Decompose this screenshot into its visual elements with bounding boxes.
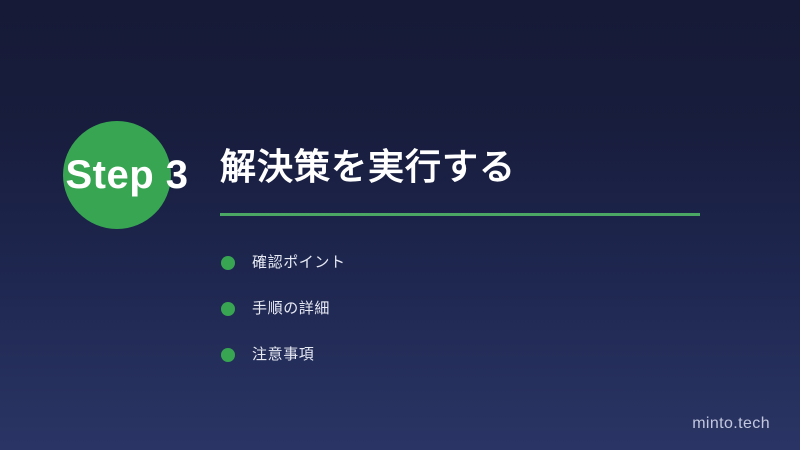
presentation-slide: Step 3 解決策を実行する 確認ポイント 手順の詳細 注意事項 minto.… [0, 0, 800, 450]
list-item: 確認ポイント [221, 240, 346, 286]
bullet-label: 注意事項 [252, 345, 314, 365]
title-divider [220, 213, 700, 216]
list-item: 注意事項 [221, 332, 346, 378]
list-item: 手順の詳細 [221, 286, 346, 332]
bullet-label: 手順の詳細 [252, 299, 330, 319]
bullet-list: 確認ポイント 手順の詳細 注意事項 [221, 240, 346, 378]
footer-brand: minto.tech [692, 415, 770, 433]
bullet-dot-icon [221, 348, 235, 362]
bullet-dot-icon [221, 302, 235, 316]
step-badge: Step 3 [63, 121, 171, 229]
bullet-dot-icon [221, 256, 235, 270]
step-label: Step 3 [47, 153, 207, 197]
slide-title: 解決策を実行する [220, 144, 516, 190]
bullet-label: 確認ポイント [252, 253, 346, 273]
